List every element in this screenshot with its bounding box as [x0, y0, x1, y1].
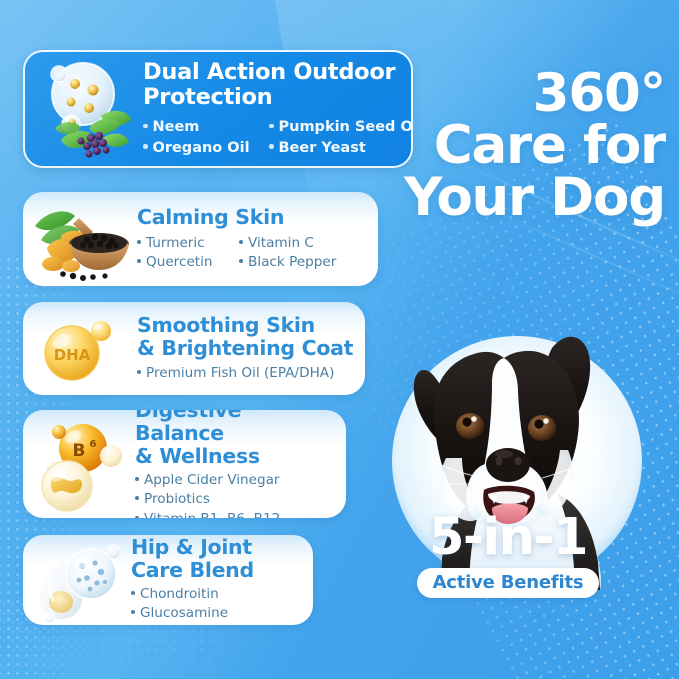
bullet-dot-icon: [131, 610, 135, 614]
bullet-dot-icon: [137, 240, 141, 244]
bullet-item: Black Pepper: [239, 253, 336, 272]
card-title-line-2: & Wellness: [135, 445, 336, 468]
benefit-card-hip-joint[interactable]: Hip & Joint Care Blend Chondroitin Gluco…: [23, 535, 313, 625]
bullet-item: Oregano Oil: [143, 138, 255, 159]
card-body: Calming Skin Turmeric Quercetin Vitamin …: [137, 206, 368, 273]
bullet-label: Black Pepper: [248, 253, 336, 272]
bullet-item: Apple Cider Vinegar: [135, 471, 336, 490]
benefit-card-calming-skin[interactable]: Calming Skin Turmeric Quercetin Vitamin …: [23, 192, 378, 286]
bullet-item: Premium Fish Oil (EPA/DHA): [137, 364, 355, 383]
bullet-item: Neem: [143, 117, 255, 138]
bullet-label: Neem: [153, 117, 200, 138]
joint-droplet-cell-icon: [27, 538, 131, 622]
bullet-dot-icon: [137, 259, 141, 263]
bullet-item: Probiotics: [135, 490, 336, 509]
card-body: Digestive Balance & Wellness Apple Cider…: [135, 410, 336, 518]
neem-capsule-herbs-icon: [31, 54, 143, 164]
bullet-dot-icon: [269, 124, 274, 129]
benefit-card-digestive-balance[interactable]: B 6 Digestive Balance & Wellness Apple C…: [23, 410, 346, 518]
headline-line-1: 360°: [404, 68, 665, 120]
bullet-dot-icon: [239, 259, 243, 263]
card-bullets: Turmeric Quercetin Vitamin C Black Peppe…: [137, 234, 368, 273]
card-title-line-1: Hip & Joint: [131, 536, 303, 559]
card-title: Digestive Balance & Wellness: [135, 410, 336, 468]
card-title: Hip & Joint Care Blend: [131, 536, 303, 582]
benefit-card-smoothing-skin[interactable]: DHA Smoothing Skin & Brightening Coat Pr…: [23, 302, 365, 395]
dha-softgel-icon: DHA: [27, 309, 137, 389]
card-bullets: Premium Fish Oil (EPA/DHA): [137, 364, 355, 383]
card-bullets: Chondroitin Glucosamine: [131, 585, 303, 624]
bullet-dot-icon: [269, 144, 274, 149]
b6-text: B: [73, 441, 86, 461]
card-title-line-1: Dual Action Outdoor: [143, 60, 413, 85]
bullet-item: Chondroitin: [131, 585, 303, 604]
bullet-dot-icon: [135, 477, 139, 481]
card-title-line-1: Digestive Balance: [135, 410, 336, 445]
card-title: Dual Action Outdoor Protection: [143, 60, 413, 110]
bullet-item: Glucosamine: [131, 604, 303, 623]
headline: 360° Care for Your Dog: [404, 68, 665, 224]
card-body: Dual Action Outdoor Protection Neem Oreg…: [143, 60, 413, 159]
bullet-dot-icon: [135, 516, 139, 518]
bullet-item: Pumpkin Seed Oil: [269, 117, 413, 138]
bullet-label: Turmeric: [146, 234, 205, 253]
turmeric-black-pepper-icon: [27, 196, 137, 282]
bullet-label: Beer Yeast: [279, 138, 366, 159]
bullet-dot-icon: [143, 124, 148, 129]
card-title-line-1: Smoothing Skin: [137, 314, 355, 337]
bullet-dot-icon: [239, 240, 243, 244]
bullet-item: Beer Yeast: [269, 138, 413, 159]
bullet-item: Vitamin C: [239, 234, 336, 253]
bullet-dot-icon: [137, 370, 141, 374]
active-benefits-badge: 5-in-1 Active Benefits: [408, 512, 608, 598]
card-title-line-1: Calming Skin: [137, 206, 368, 229]
headline-line-3: Your Dog: [404, 172, 665, 224]
bullet-dot-icon: [131, 591, 135, 595]
bullet-item: Quercetin: [137, 253, 219, 272]
bullet-label: Vitamin B1, B6, B12: [144, 510, 280, 518]
bullet-label: Glucosamine: [140, 604, 228, 623]
b6-superscript: 6: [90, 439, 97, 450]
card-title-line-2: Care Blend: [131, 559, 303, 582]
card-body: Smoothing Skin & Brightening Coat Premiu…: [137, 314, 355, 383]
bullet-label: Chondroitin: [140, 585, 219, 604]
bullet-item: Vitamin B1, B6, B12: [135, 510, 336, 518]
card-title: Smoothing Skin & Brightening Coat: [137, 314, 355, 360]
bullet-label: Apple Cider Vinegar: [144, 471, 280, 490]
card-title-line-2: & Brightening Coat: [137, 337, 355, 360]
card-bullets: Apple Cider Vinegar Probiotics Vitamin B…: [135, 471, 336, 518]
promo-infographic: 360° Care for Your Dog: [0, 0, 679, 679]
bullet-dot-icon: [143, 144, 148, 149]
benefit-label-pill: Active Benefits: [417, 568, 600, 598]
headline-line-2: Care for: [404, 120, 665, 172]
bullet-label: Quercetin: [146, 253, 213, 272]
card-body: Hip & Joint Care Blend Chondroitin Gluco…: [131, 536, 303, 624]
benefit-count: 5-in-1: [408, 512, 608, 563]
card-title: Calming Skin: [137, 206, 368, 229]
bullet-label: Premium Fish Oil (EPA/DHA): [146, 364, 334, 383]
bullet-label: Oregano Oil: [153, 138, 250, 159]
bullet-label: Vitamin C: [248, 234, 314, 253]
vitamin-b6-softgel-icon: B 6: [27, 416, 135, 512]
bullet-item: Turmeric: [137, 234, 219, 253]
card-title-line-2: Protection: [143, 85, 413, 110]
bullet-dot-icon: [135, 496, 139, 500]
card-bullets: Neem Oregano Oil Pumpkin Seed Oil Beer Y…: [143, 117, 413, 158]
bullet-label: Probiotics: [144, 490, 210, 509]
dha-text: DHA: [54, 346, 91, 364]
bullet-label: Pumpkin Seed Oil: [279, 117, 414, 138]
benefit-card-dual-action-outdoor-protection[interactable]: Dual Action Outdoor Protection Neem Oreg…: [23, 50, 413, 168]
